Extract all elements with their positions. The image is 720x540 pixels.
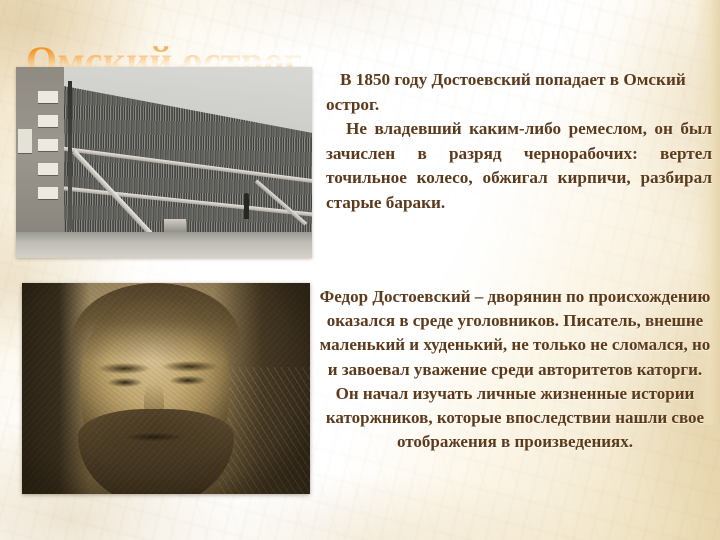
fence-standing-figure — [244, 197, 249, 219]
fence-brace-footing — [164, 219, 186, 233]
dostoevsky-portrait-photo — [22, 283, 310, 494]
building-window — [38, 139, 58, 151]
building-window — [38, 187, 58, 199]
text-bottom-paragraph-1: Федор Достоевский – дворянин по происхож… — [318, 285, 712, 454]
text-top-paragraph-1: В 1850 году Достоевский попадает в Омски… — [326, 68, 712, 117]
building-window-side — [18, 129, 32, 153]
fence-corner-building — [16, 67, 64, 234]
building-window — [38, 115, 58, 127]
text-block-top: В 1850 году Достоевский попадает в Омски… — [326, 68, 712, 216]
building-window — [38, 163, 58, 175]
text-block-bottom: Федор Достоевский – дворянин по происхож… — [318, 285, 712, 454]
text-top-paragraph-2: Не владевший каким-либо ремеслом, он был… — [326, 117, 712, 215]
prison-stockade-wall-photo — [16, 67, 312, 258]
fence-corner-post — [68, 81, 72, 230]
fence-ground — [16, 232, 312, 258]
slide-canvas: Омский острог Омский острог — [0, 0, 720, 540]
portrait-vignette — [22, 283, 310, 494]
building-window — [38, 91, 58, 103]
